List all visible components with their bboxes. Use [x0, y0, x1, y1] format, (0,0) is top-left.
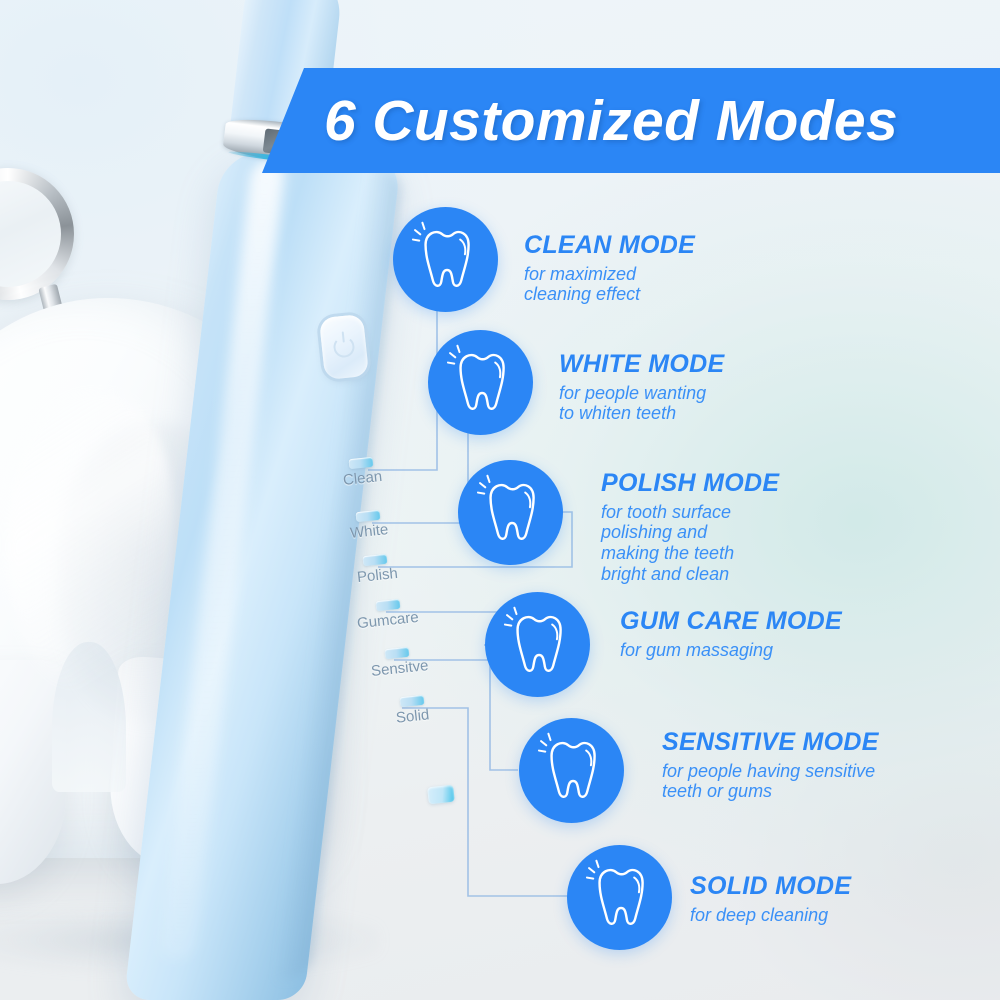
handle-label-sensitive: Sensitve: [370, 657, 429, 680]
mode-text-polish: POLISH MODE for tooth surface polishing …: [601, 470, 779, 585]
mode-text-clean: CLEAN MODE for maximized cleaning effect: [524, 232, 695, 305]
page-title: 6 Customized Modes: [324, 88, 898, 154]
mode-led-solid: [400, 695, 425, 707]
mode-title-solid: SOLID MODE: [690, 873, 851, 901]
mode-led-clean: [349, 457, 374, 469]
handle-label-polish: Polish: [356, 565, 398, 586]
mode-title-clean: CLEAN MODE: [524, 232, 695, 260]
product-infographic: 6 Customized Modes Clean White Polish Gu…: [0, 0, 1000, 1000]
mode-title-polish: POLISH MODE: [601, 470, 779, 498]
power-icon: [332, 335, 355, 358]
dental-mirror-icon: [0, 168, 74, 300]
mode-led-gumcare: [376, 599, 401, 611]
tooth-icon-sensitive: [519, 718, 624, 823]
mode-text-sensitive: SENSITIVE MODE for people having sensiti…: [662, 729, 879, 802]
dental-mirror-handle: [38, 284, 80, 382]
mode-desc-polish: for tooth surface polishing and making t…: [601, 502, 779, 586]
mode-led-white: [356, 510, 381, 522]
tooth-icon-gumcare: [485, 592, 590, 697]
power-button[interactable]: [319, 314, 369, 380]
mode-text-solid: SOLID MODE for deep cleaning: [690, 873, 851, 925]
mode-desc-sensitive: for people having sensitive teeth or gum…: [662, 761, 879, 803]
handle-label-clean: Clean: [342, 468, 383, 489]
tooth-icon-polish: [458, 460, 563, 565]
mode-led-sensitive: [385, 647, 410, 659]
mode-text-white: WHITE MODE for people wanting to whiten …: [559, 351, 725, 424]
handle-label-gumcare: Gumcare: [356, 609, 419, 632]
mode-desc-white: for people wanting to whiten teeth: [559, 383, 725, 425]
mode-title-gumcare: GUM CARE MODE: [620, 608, 842, 636]
mode-desc-solid: for deep cleaning: [690, 905, 851, 926]
mode-title-white: WHITE MODE: [559, 351, 725, 379]
mode-led-polish: [363, 554, 388, 566]
tooth-icon-clean: [393, 207, 498, 312]
handle-label-white: White: [349, 521, 389, 542]
header-banner: 6 Customized Modes: [262, 68, 1000, 173]
tooth-model-notch: [52, 642, 126, 792]
mode-desc-clean: for maximized cleaning effect: [524, 264, 695, 306]
mode-title-sensitive: SENSITIVE MODE: [662, 729, 879, 757]
handle-label-solid: Solid: [395, 706, 430, 726]
tooth-model-gloss: [6, 392, 174, 692]
battery-led-icon: [427, 785, 455, 805]
tooth-icon-white: [428, 330, 533, 435]
tooth-icon-solid: [567, 845, 672, 950]
mode-text-gumcare: GUM CARE MODE for gum massaging: [620, 608, 842, 660]
mode-desc-gumcare: for gum massaging: [620, 640, 842, 661]
tooth-model-root-left: [0, 660, 66, 884]
